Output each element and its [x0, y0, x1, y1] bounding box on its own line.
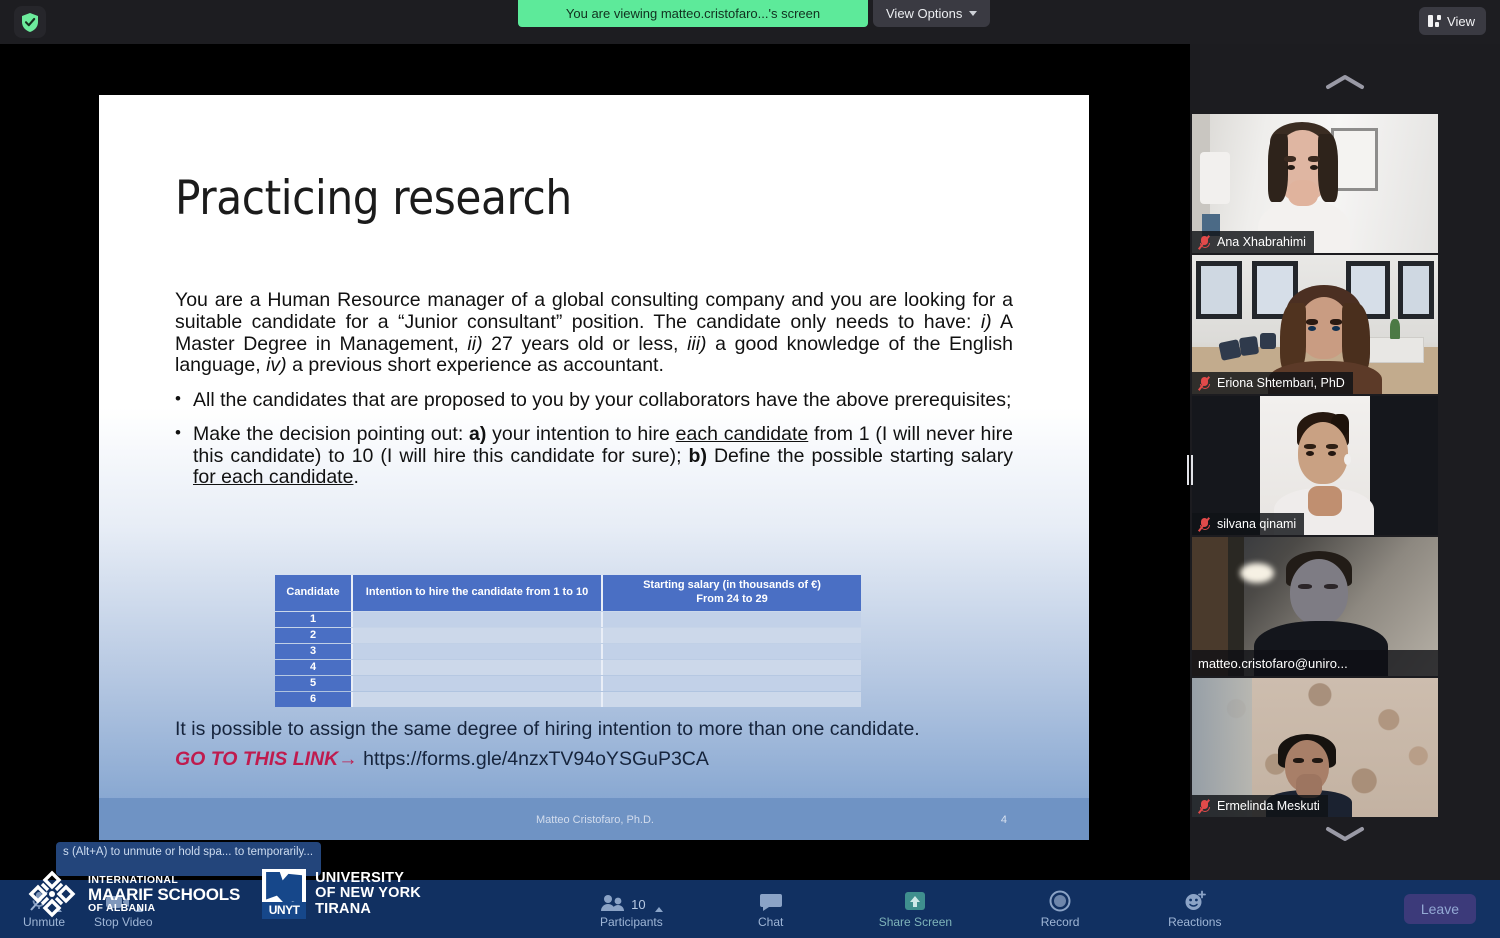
row-index: 2 [275, 628, 353, 643]
participants-button[interactable]: 10 Participants [586, 880, 677, 938]
participant-name: matteo.cristofaro@uniro... [1198, 656, 1348, 671]
view-options-button[interactable]: View Options [873, 0, 990, 27]
table-row: 1 [275, 612, 861, 627]
record-button[interactable]: Record [1024, 880, 1096, 938]
cell-salary [603, 676, 861, 691]
table-header-candidate: Candidate [275, 575, 353, 611]
table-header-salary: Starting salary (in thousands of €) From… [603, 575, 861, 611]
chat-bubble-icon [759, 890, 783, 912]
row-index: 1 [275, 612, 353, 627]
participant-name-bar: Ana Xhabrahimi [1192, 231, 1314, 253]
chat-button[interactable]: Chat [735, 880, 807, 938]
table-row: 3 [275, 644, 861, 659]
filmstrip-scroll-up-button[interactable] [1190, 62, 1500, 102]
participants-count: 10 [631, 897, 645, 912]
cell-salary [603, 644, 861, 659]
mic-muted-icon [1198, 235, 1211, 250]
share-screen-label: Share Screen [879, 915, 952, 929]
participant-tile[interactable]: Eriona Shtembari, PhD [1192, 255, 1438, 394]
participant-name: Ana Xhabrahimi [1217, 235, 1306, 249]
participant-tile[interactable]: Ana Xhabrahimi [1192, 114, 1438, 253]
share-banner-text: You are viewing matteo.cristofaro...'s s… [518, 0, 868, 27]
cell-intention [353, 644, 603, 659]
view-button[interactable]: View [1419, 7, 1486, 35]
record-icon [1049, 890, 1071, 912]
candidates-table: Candidate Intention to hire the candidat… [275, 574, 861, 708]
unyt-logo-text: UNIVERSITY OF NEW YORK TIRANA [315, 871, 421, 918]
participants-label: Participants [600, 915, 663, 929]
slide-link-line: GO TO THIS LINK→ https://forms.gle/4nzxT… [175, 748, 709, 771]
slide-link-url[interactable]: https://forms.gle/4nzxTV94oYSGuP3CA [363, 748, 709, 770]
toolbar-center-group: 10 Participants Chat [586, 880, 1235, 938]
chevron-down-icon [969, 11, 977, 16]
slide-author: Matteo Cristofaro, Ph.D. [536, 814, 654, 826]
row-index: 5 [275, 676, 353, 691]
slide-bullet-list: All the candidates that are proposed to … [175, 390, 1013, 501]
participant-tiles: Ana Xhabrahimi [1192, 114, 1442, 819]
chevron-up-icon [1324, 72, 1366, 92]
participant-name-bar: matteo.cristofaro@uniro... [1192, 650, 1438, 676]
unyt-line-3: TIRANA [315, 902, 421, 918]
slide-bullet-2: Make the decision pointing out: a) your … [175, 424, 1013, 489]
view-options-label: View Options [886, 6, 962, 21]
reactions-button[interactable]: Reactions [1154, 880, 1235, 938]
table-header-salary-line1: Starting salary (in thousands of €) [643, 579, 821, 591]
share-screen-icon [903, 890, 927, 912]
reactions-icon [1183, 890, 1207, 912]
table-row: 5 [275, 676, 861, 691]
slide-page-number: 4 [1001, 814, 1007, 826]
participant-name: Ermelinda Meskuti [1217, 799, 1320, 813]
cell-intention [353, 612, 603, 627]
maarif-logo-text: INTERNATIONAL MAARIF SCHOOLS OF ALBANIA [88, 875, 240, 913]
slide-closing-note: It is possible to assign the same degree… [175, 718, 920, 741]
leave-label: Leave [1421, 901, 1459, 917]
chevron-down-icon [1324, 824, 1366, 844]
mic-muted-icon [1198, 799, 1211, 814]
overlay-logos: INTERNATIONAL MAARIF SCHOOLS OF ALBANIA … [26, 860, 421, 928]
maarif-line-1: INTERNATIONAL [88, 875, 240, 886]
mic-muted-icon [1198, 376, 1211, 391]
unyt-line-2: OF NEW YORK [315, 886, 421, 902]
participant-tile[interactable]: silvana qinami [1192, 396, 1438, 535]
chevron-up-icon[interactable] [655, 907, 663, 912]
participant-name: Eriona Shtembari, PhD [1217, 376, 1345, 390]
shield-check-icon[interactable] [14, 6, 46, 38]
unyt-line-1: UNIVERSITY [315, 871, 421, 887]
cell-intention [353, 676, 603, 691]
cell-intention [353, 692, 603, 707]
arrow-right-icon: → [338, 748, 358, 770]
participant-name-bar: silvana qinami [1192, 513, 1304, 535]
table-header-salary-line2: From 24 to 29 [696, 593, 768, 605]
participant-tile-active-speaker[interactable]: matteo.cristofaro@uniro... [1192, 537, 1438, 676]
participant-tile[interactable]: Ermelinda Meskuti [1192, 678, 1438, 817]
cell-salary [603, 612, 861, 627]
slide-title: Practicing research [175, 171, 572, 226]
leave-button[interactable]: Leave [1404, 894, 1476, 924]
cell-salary [603, 692, 861, 707]
maarif-emblem-icon [26, 868, 78, 920]
cell-salary [603, 628, 861, 643]
row-index: 3 [275, 644, 353, 659]
table-header-row: Candidate Intention to hire the candidat… [275, 575, 861, 611]
cell-intention [353, 628, 603, 643]
table-row: 2 [275, 628, 861, 643]
participant-name-bar: Eriona Shtembari, PhD [1192, 372, 1353, 394]
zoom-meeting-window: View You are viewing matteo.cristofaro..… [0, 0, 1500, 938]
panel-drag-handle[interactable] [1186, 452, 1193, 487]
row-index: 6 [275, 692, 353, 707]
unyt-emblem-icon: UNYT [262, 869, 306, 919]
share-screen-button[interactable]: Share Screen [865, 880, 966, 938]
filmstrip-scroll-down-button[interactable] [1190, 814, 1500, 854]
view-button-label: View [1447, 14, 1475, 29]
participant-name: silvana qinami [1217, 517, 1296, 531]
layout-view-icon [1428, 15, 1441, 27]
participant-filmstrip: Ana Xhabrahimi [1190, 44, 1500, 938]
cell-salary [603, 660, 861, 675]
slide-bullet-1: All the candidates that are proposed to … [175, 390, 1013, 412]
table-row: 4 [275, 660, 861, 675]
maarif-line-3: OF ALBANIA [88, 903, 240, 914]
unyt-logo: UNYT UNIVERSITY OF NEW YORK TIRANA [262, 869, 421, 919]
row-index: 4 [275, 660, 353, 675]
record-label: Record [1041, 915, 1080, 929]
chat-label: Chat [758, 915, 783, 929]
unyt-mark-text: UNYT [262, 902, 306, 919]
shared-screen-stage: Practicing research You are a Human Reso… [0, 44, 1190, 938]
presentation-slide: Practicing research You are a Human Reso… [99, 95, 1089, 840]
participants-icon: 10 [600, 890, 662, 912]
maarif-logo: INTERNATIONAL MAARIF SCHOOLS OF ALBANIA [26, 868, 240, 920]
maarif-line-2: MAARIF SCHOOLS [88, 886, 240, 903]
slide-paragraph: You are a Human Resource manager of a gl… [175, 290, 1013, 377]
screen-share-banner: You are viewing matteo.cristofaro...'s s… [518, 0, 990, 27]
reactions-label: Reactions [1168, 915, 1221, 929]
table-row: 6 [275, 692, 861, 707]
table-header-intention: Intention to hire the candidate from 1 t… [353, 575, 603, 611]
mic-muted-icon [1198, 517, 1211, 532]
cell-intention [353, 660, 603, 675]
go-to-link-label: GO TO THIS LINK [175, 748, 338, 770]
table-body: 1 2 3 4 5 6 [275, 612, 861, 707]
